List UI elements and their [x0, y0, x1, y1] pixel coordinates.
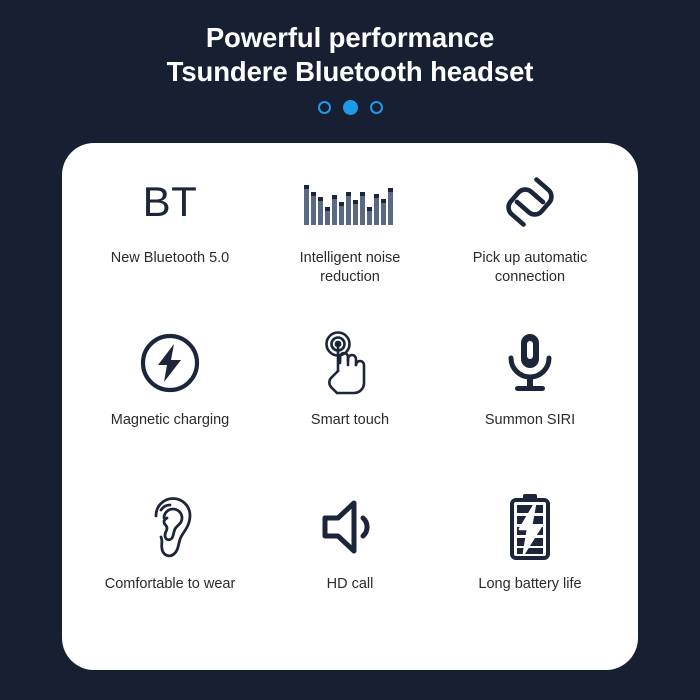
battery-bolt-icon — [505, 490, 555, 564]
feature-label: Pick up automatic connection — [454, 249, 606, 287]
feature-new-bluetooth[interactable]: BT New Bluetooth 5.0 — [80, 165, 260, 326]
feature-smart-touch[interactable]: Smart touch — [260, 326, 440, 490]
title-line-1: Powerful performance — [206, 22, 494, 53]
feature-label: Summon SIRI — [485, 411, 575, 430]
feature-card: BT New Bluetooth 5.0 — [62, 143, 638, 670]
header-banner: Powerful performance Tsundere Bluetooth … — [0, 0, 700, 143]
pagination-dot-1[interactable] — [318, 101, 331, 114]
pagination-dots[interactable] — [0, 100, 700, 115]
title-line-2: Tsundere Bluetooth headset — [0, 55, 700, 89]
feature-row-3: Comfortable to wear HD call — [80, 490, 620, 652]
feature-summon-siri[interactable]: Summon SIRI — [440, 326, 620, 490]
pagination-dot-2-active[interactable] — [343, 100, 358, 115]
feature-noise-reduction[interactable]: Intelligent noise reduction — [260, 165, 440, 326]
equalizer-bars-icon — [304, 165, 396, 239]
feature-hd-call[interactable]: HD call — [260, 490, 440, 652]
hand-tap-icon — [317, 326, 383, 400]
bt-icon-label: BT — [143, 180, 198, 224]
feature-long-battery-life[interactable]: Long battery life — [440, 490, 620, 652]
feature-label: HD call — [327, 575, 374, 594]
feature-auto-connection[interactable]: Pick up automatic connection — [440, 165, 620, 326]
lightning-circle-icon — [138, 326, 202, 400]
feature-label: New Bluetooth 5.0 — [111, 249, 230, 268]
feature-label: Long battery life — [478, 575, 581, 594]
feature-magnetic-charging[interactable]: Magnetic charging — [80, 326, 260, 490]
chain-link-icon — [498, 165, 562, 239]
feature-label: Smart touch — [311, 411, 389, 430]
feature-comfortable-to-wear[interactable]: Comfortable to wear — [80, 490, 260, 652]
page-title: Powerful performance Tsundere Bluetooth … — [0, 0, 700, 89]
ear-icon — [143, 490, 197, 564]
speaker-icon — [319, 490, 381, 564]
microphone-icon — [502, 326, 558, 400]
pagination-dot-3[interactable] — [370, 101, 383, 114]
bt-text-icon: BT — [143, 165, 198, 239]
feature-label: Intelligent noise reduction — [274, 249, 426, 287]
feature-label: Magnetic charging — [111, 411, 230, 430]
feature-row-2: Magnetic charging — [80, 326, 620, 490]
feature-row-1: BT New Bluetooth 5.0 — [80, 165, 620, 326]
feature-label: Comfortable to wear — [105, 575, 236, 594]
